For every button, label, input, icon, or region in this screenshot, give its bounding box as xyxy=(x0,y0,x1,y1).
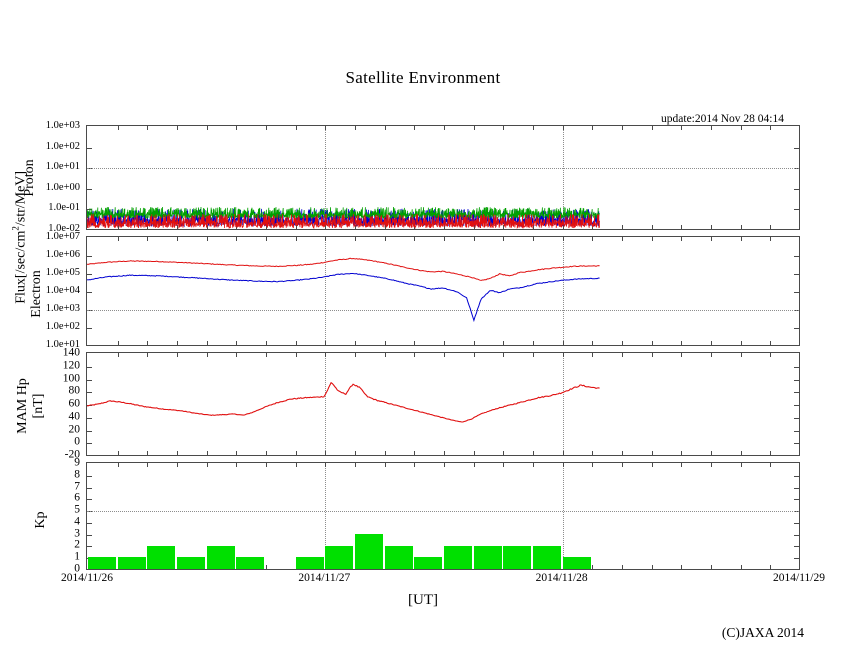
x-tick-mark xyxy=(592,463,593,467)
x-tick-mark xyxy=(622,463,623,467)
page-title: Satellite Environment xyxy=(0,68,846,88)
electron-ytick-label: 1.0e+07 xyxy=(46,232,80,243)
day-gridline xyxy=(563,463,564,569)
y-tick-mark xyxy=(794,499,799,500)
x-tick-mark xyxy=(741,565,742,569)
y-tick-mark xyxy=(87,488,92,489)
electron-traces xyxy=(87,237,799,345)
proton-ytick-label: 1.0e+00 xyxy=(46,183,80,194)
electron-ytick-label: 1.0e+03 xyxy=(46,304,80,315)
x-tick-mark xyxy=(296,463,297,467)
kp-bar xyxy=(118,557,146,569)
x-tick-mark xyxy=(563,463,564,467)
x-tick-mark xyxy=(236,463,237,467)
x-tick-mark xyxy=(444,463,445,467)
x-tick-mark xyxy=(266,463,267,467)
proton-ytick-label: 1.0e+02 xyxy=(46,141,80,152)
data-trace-electron-red xyxy=(87,258,600,280)
x-tick-mark xyxy=(622,565,623,569)
y-tick-mark xyxy=(794,488,799,489)
proton-flux-panel xyxy=(86,125,800,230)
electron-flux-panel xyxy=(86,236,800,346)
x-tick-mark xyxy=(177,463,178,467)
kp-bar xyxy=(563,557,591,569)
x-tick-mark xyxy=(385,463,386,467)
kp-ytick-label: 3 xyxy=(74,528,80,540)
data-trace-mam-hp xyxy=(87,383,600,422)
kp-bar xyxy=(88,557,116,569)
mam-ytick-label: 120 xyxy=(63,360,80,372)
kp-bar xyxy=(355,534,383,569)
x-tick-mark xyxy=(711,463,712,467)
electron-ytick-label: 1.0e+05 xyxy=(46,268,80,279)
x-tick-mark xyxy=(474,463,475,467)
electron-ytick-labels: 1.0e+071.0e+061.0e+051.0e+041.0e+031.0e+… xyxy=(0,236,80,346)
x-tick-mark xyxy=(652,565,653,569)
electron-ytick-label: 1.0e+04 xyxy=(46,286,80,297)
x-axis-title: [UT] xyxy=(0,592,846,609)
x-tick-mark xyxy=(355,463,356,467)
x-tick-mark xyxy=(503,463,504,467)
kp-ytick-label: 4 xyxy=(74,516,80,528)
x-tick-mark xyxy=(266,565,267,569)
kp-bar xyxy=(533,546,561,569)
proton-traces xyxy=(87,126,799,229)
mam-ytick-label: 20 xyxy=(69,424,81,436)
x-tick-mark xyxy=(414,463,415,467)
kp-bar xyxy=(236,557,264,569)
proton-ytick-label: 1.0e-01 xyxy=(48,203,80,214)
kp-ytick-label: 2 xyxy=(74,540,80,552)
x-tick-mark xyxy=(711,565,712,569)
y-tick-mark xyxy=(794,523,799,524)
y-tick-mark xyxy=(794,535,799,536)
update-timestamp: update:2014 Nov 28 04:14 xyxy=(661,113,784,125)
x-tick-mark xyxy=(770,565,771,569)
kp-bar xyxy=(503,546,531,569)
y-tick-mark xyxy=(87,499,92,500)
kp-bar xyxy=(177,557,205,569)
mam-ytick-label: 40 xyxy=(69,411,81,423)
chart-page: Satellite Environment update:2014 Nov 28… xyxy=(0,0,846,655)
x-axis-tick-label: 2014/11/26 xyxy=(61,572,113,584)
kp-bar xyxy=(207,546,235,569)
mam-ytick-label: 80 xyxy=(69,386,81,398)
x-tick-mark xyxy=(652,463,653,467)
horizontal-gridline xyxy=(87,511,799,512)
kp-ytick-label: 6 xyxy=(74,493,80,505)
electron-ytick-label: 1.0e+06 xyxy=(46,250,80,261)
kp-bar xyxy=(147,546,175,569)
proton-ytick-label: 1.0e+03 xyxy=(46,121,80,132)
kp-bar xyxy=(414,557,442,569)
mam-ytick-labels: 140120100806040200-20 xyxy=(0,352,80,456)
kp-ytick-label: 8 xyxy=(74,469,80,481)
y-tick-mark xyxy=(87,476,92,477)
x-tick-mark xyxy=(770,463,771,467)
x-tick-mark xyxy=(207,463,208,467)
kp-ytick-label: 5 xyxy=(74,504,80,516)
x-axis-tick-labels: 2014/11/262014/11/272014/11/282014/11/29 xyxy=(0,572,846,588)
data-trace-electron-blue xyxy=(87,274,600,321)
kp-ytick-label: 7 xyxy=(74,481,80,493)
y-tick-mark xyxy=(794,476,799,477)
mam-hp-panel xyxy=(86,352,800,456)
kp-ytick-label: 1 xyxy=(74,551,80,563)
kp-ytick-label: 9 xyxy=(74,457,80,469)
x-tick-mark xyxy=(741,463,742,467)
x-tick-mark xyxy=(147,463,148,467)
electron-ytick-label: 1.0e+02 xyxy=(46,322,80,333)
copyright-notice: (C)JAXA 2014 xyxy=(722,625,804,641)
kp-bar xyxy=(474,546,502,569)
proton-ytick-label: 1.0e+01 xyxy=(46,162,80,173)
kp-index-panel xyxy=(86,462,800,570)
x-tick-mark xyxy=(325,463,326,467)
x-axis-tick-label: 2014/11/29 xyxy=(773,572,825,584)
kp-ytick-labels: 9876543210 xyxy=(0,462,80,570)
mam-ytick-label: 100 xyxy=(63,373,80,385)
y-tick-mark xyxy=(794,558,799,559)
kp-bar xyxy=(325,546,353,569)
y-tick-mark xyxy=(87,523,92,524)
mam-traces xyxy=(87,353,799,455)
y-tick-mark xyxy=(794,546,799,547)
x-tick-mark xyxy=(533,463,534,467)
x-tick-mark xyxy=(681,565,682,569)
x-axis-tick-label: 2014/11/28 xyxy=(536,572,588,584)
x-tick-mark xyxy=(592,565,593,569)
mam-ytick-label: 60 xyxy=(69,398,81,410)
mam-ytick-label: 140 xyxy=(63,347,80,359)
kp-bar xyxy=(296,557,324,569)
kp-bar xyxy=(444,546,472,569)
x-axis-tick-label: 2014/11/27 xyxy=(298,572,350,584)
mam-ytick-label: 0 xyxy=(74,437,80,449)
proton-ytick-labels: 1.0e+031.0e+021.0e+011.0e+001.0e-011.0e-… xyxy=(0,125,80,230)
kp-bar xyxy=(385,546,413,569)
y-tick-mark xyxy=(87,546,92,547)
y-tick-mark xyxy=(87,535,92,536)
x-tick-mark xyxy=(118,463,119,467)
x-tick-mark xyxy=(681,463,682,467)
